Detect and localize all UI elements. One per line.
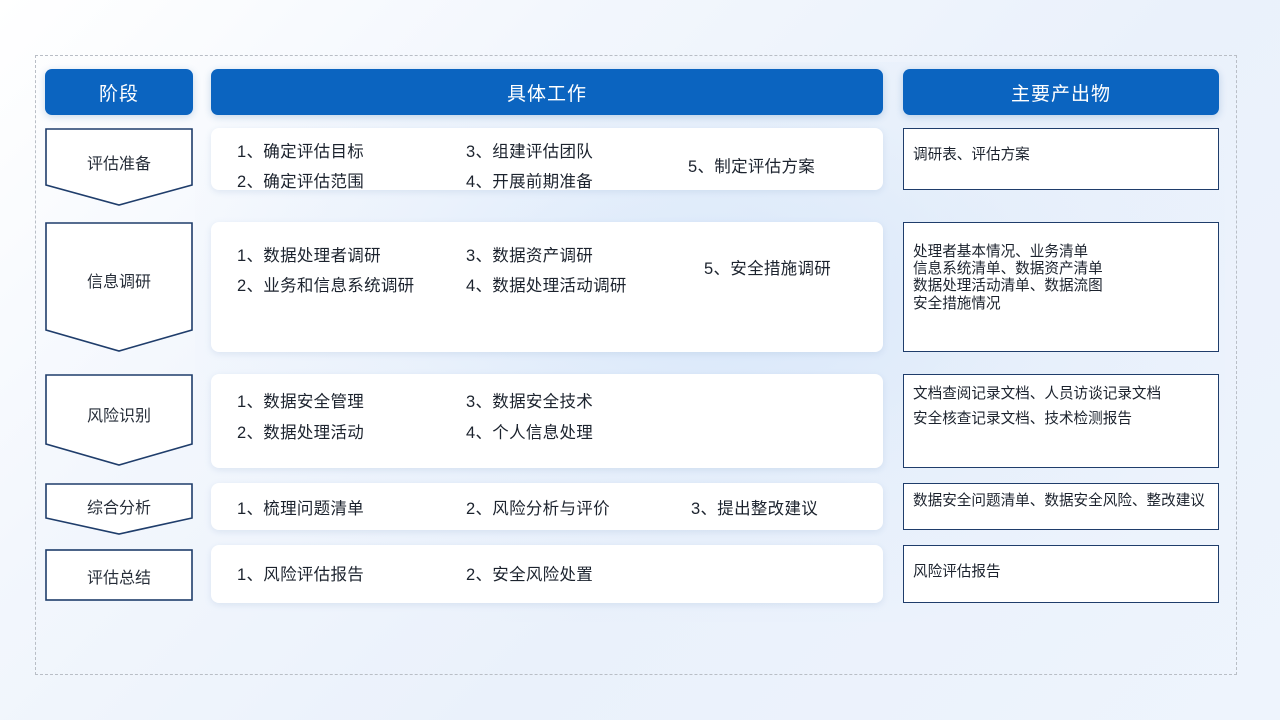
work-item: 3、数据安全技术 (466, 388, 593, 412)
work-item: 4、数据处理活动调研 (466, 272, 627, 296)
output-paragraph: 数据安全问题清单、数据安全风险、整改建议 (913, 493, 1209, 511)
work-item: 3、提出整改建议 (691, 495, 818, 519)
stage-box-4[interactable]: 综合分析 (45, 483, 193, 535)
work-item: 2、安全风险处置 (466, 561, 593, 585)
work-box-1: 1、确定评估目标 2、确定评估范围 3、组建评估团队 4、开展前期准备 5、制定… (211, 128, 883, 190)
work-item: 5、安全措施调研 (704, 255, 831, 279)
stage-label-1: 评估准备 (45, 150, 193, 174)
stage-box-5[interactable]: 评估总结 (45, 549, 193, 601)
header-stage: 阶段 (45, 69, 193, 115)
output-paragraph: 文档查阅记录文档、人员访谈记录文档 (913, 386, 1209, 404)
work-item: 5、制定评估方案 (688, 153, 815, 177)
work-item: 2、风险分析与评价 (466, 495, 610, 519)
header-output-label: 主要产出物 (1011, 79, 1111, 106)
output-box-3: 文档查阅记录文档、人员访谈记录文档 安全核查记录文档、技术检测报告 (903, 374, 1219, 468)
output-line: 信息系统清单、数据资产清单 (913, 261, 1209, 278)
work-item: 1、数据处理者调研 (237, 242, 381, 266)
stage-label-3: 风险识别 (45, 402, 193, 426)
output-line: 调研表、评估方案 (913, 147, 1209, 164)
work-item: 1、风险评估报告 (237, 561, 364, 585)
work-item: 2、确定评估范围 (237, 168, 364, 192)
work-item: 4、开展前期准备 (466, 168, 593, 192)
output-box-1: 调研表、评估方案 (903, 128, 1219, 190)
work-item: 2、业务和信息系统调研 (237, 272, 414, 296)
header-stage-label: 阶段 (99, 79, 139, 106)
header-work: 具体工作 (211, 69, 883, 115)
stage-box-2[interactable]: 信息调研 (45, 222, 193, 352)
stage-box-1[interactable]: 评估准备 (45, 128, 193, 206)
output-box-5: 风险评估报告 (903, 545, 1219, 603)
spacer (913, 404, 1209, 411)
work-item: 3、组建评估团队 (466, 138, 593, 162)
output-box-4: 数据安全问题清单、数据安全风险、整改建议 (903, 483, 1219, 530)
header-work-label: 具体工作 (507, 79, 587, 106)
slide-canvas: 阶段 具体工作 主要产出物 评估准备 信息调研 风险识别 (0, 0, 1280, 720)
work-box-4: 1、梳理问题清单 2、风险分析与评价 3、提出整改建议 (211, 483, 883, 530)
stage-label-5: 评估总结 (45, 564, 193, 588)
work-box-3: 1、数据安全管理 2、数据处理活动 3、数据安全技术 4、个人信息处理 (211, 374, 883, 468)
output-line: 数据处理活动清单、数据流图 (913, 278, 1209, 295)
output-line: 处理者基本情况、业务清单 (913, 244, 1209, 261)
work-item: 3、数据资产调研 (466, 242, 593, 266)
work-item: 1、确定评估目标 (237, 138, 364, 162)
output-box-2: 处理者基本情况、业务清单 信息系统清单、数据资产清单 数据处理活动清单、数据流图… (903, 222, 1219, 352)
work-item: 1、梳理问题清单 (237, 495, 364, 519)
header-output: 主要产出物 (903, 69, 1219, 115)
stage-label-2: 信息调研 (45, 268, 193, 292)
output-line: 安全措施情况 (913, 296, 1209, 313)
work-box-2: 1、数据处理者调研 2、业务和信息系统调研 3、数据资产调研 4、数据处理活动调… (211, 222, 883, 352)
output-paragraph: 安全核查记录文档、技术检测报告 (913, 411, 1209, 429)
work-box-5: 1、风险评估报告 2、安全风险处置 (211, 545, 883, 603)
stage-box-3[interactable]: 风险识别 (45, 374, 193, 466)
work-item: 4、个人信息处理 (466, 419, 593, 443)
work-item: 2、数据处理活动 (237, 419, 364, 443)
stage-label-4: 综合分析 (45, 494, 193, 518)
output-line: 风险评估报告 (913, 564, 1209, 581)
work-item: 1、数据安全管理 (237, 388, 364, 412)
